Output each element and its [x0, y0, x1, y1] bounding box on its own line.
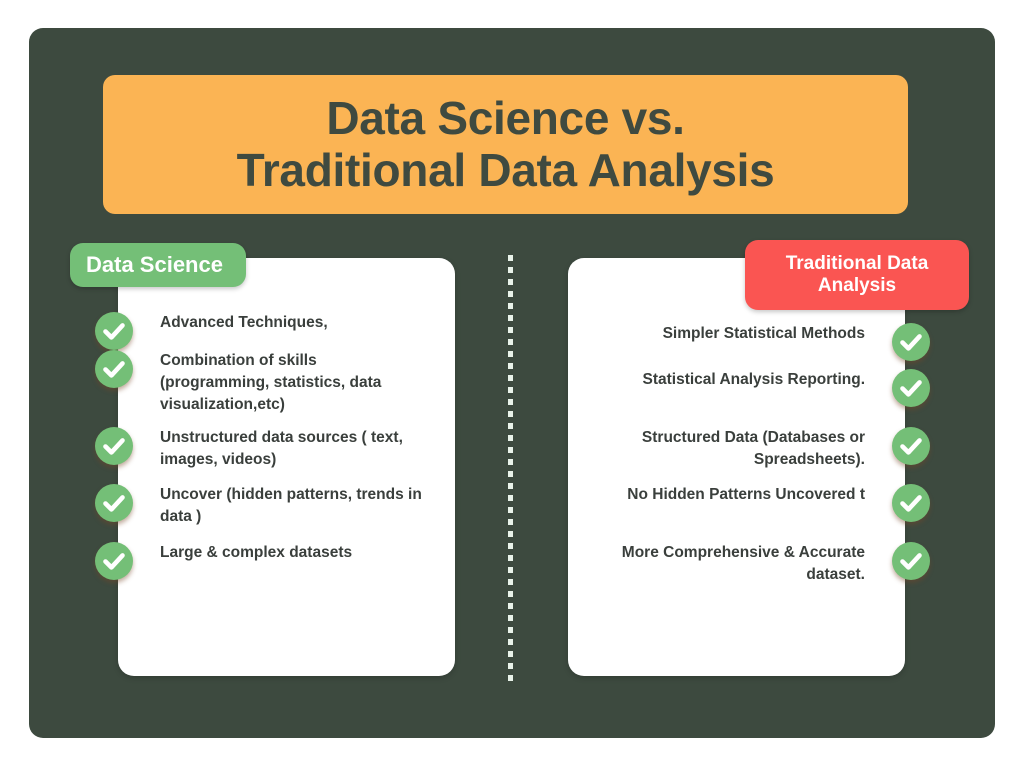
- list-item: Statistical Analysis Reporting.: [642, 369, 930, 407]
- data-science-item-text: Advanced Techniques,: [160, 312, 328, 334]
- data-science-item-text: Unstructured data sources ( text, images…: [160, 427, 425, 471]
- list-item: Combination of skills (programming, stat…: [95, 350, 425, 416]
- check-circle-icon: [95, 484, 133, 522]
- list-item: Large & complex datasets: [95, 542, 352, 580]
- list-item: Structured Data (Databases or Spreadshee…: [600, 427, 930, 471]
- check-circle-icon: [95, 542, 133, 580]
- check-circle-icon: [95, 312, 133, 350]
- check-circle-icon: [892, 542, 930, 580]
- list-item: No Hidden Patterns Uncovered t: [627, 484, 930, 522]
- check-circle-icon: [892, 323, 930, 361]
- traditional-analysis-item-text: Statistical Analysis Reporting.: [642, 369, 865, 391]
- data-science-item-text: Large & complex datasets: [160, 542, 352, 564]
- traditional-analysis-item-text: More Comprehensive & Accurate dataset.: [600, 542, 865, 586]
- slide-canvas: Data Science vs. Traditional Data Analys…: [0, 0, 1024, 768]
- traditional-analysis-item-text: Structured Data (Databases or Spreadshee…: [600, 427, 865, 471]
- traditional-analysis-item-text: No Hidden Patterns Uncovered t: [627, 484, 865, 506]
- list-item: Advanced Techniques,: [95, 312, 328, 350]
- check-circle-icon: [95, 427, 133, 465]
- data-science-item-text: Combination of skills (programming, stat…: [160, 350, 425, 416]
- list-item: Unstructured data sources ( text, images…: [95, 427, 425, 471]
- traditional-analysis-item-text: Simpler Statistical Methods: [663, 323, 865, 345]
- list-item: Uncover (hidden patterns, trends in data…: [95, 484, 425, 528]
- check-circle-icon: [892, 369, 930, 407]
- check-circle-icon: [95, 350, 133, 388]
- check-circle-icon: [892, 484, 930, 522]
- page-title: Data Science vs. Traditional Data Analys…: [237, 93, 775, 197]
- title-banner: Data Science vs. Traditional Data Analys…: [103, 75, 908, 214]
- list-item: Simpler Statistical Methods: [663, 323, 930, 361]
- data-science-item-text: Uncover (hidden patterns, trends in data…: [160, 484, 425, 528]
- list-item: More Comprehensive & Accurate dataset.: [600, 542, 930, 586]
- traditional-analysis-list: Simpler Statistical MethodsStatistical A…: [470, 258, 930, 676]
- check-circle-icon: [892, 427, 930, 465]
